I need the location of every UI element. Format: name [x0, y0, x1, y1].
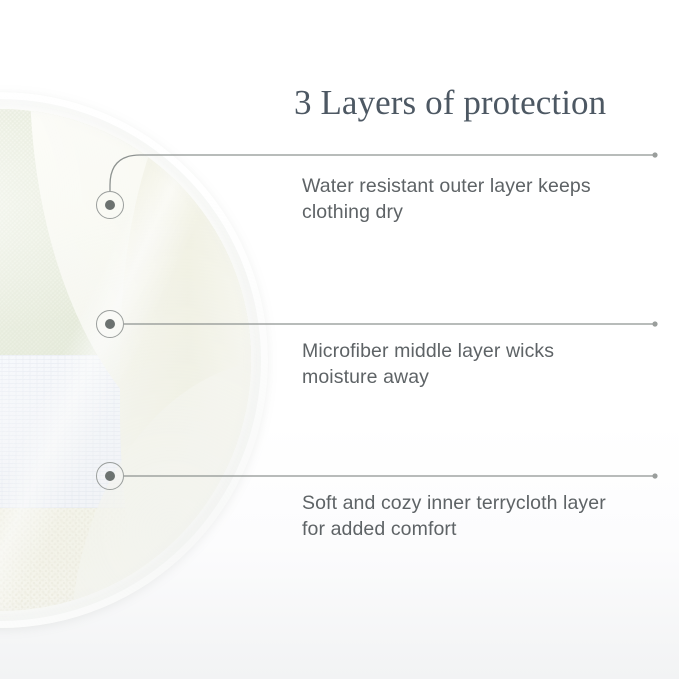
callout-text-outer-layer: Water resistant outer layer keeps clothi…	[302, 173, 632, 225]
callout-text-middle-layer: Microfiber middle layer wicks moisture a…	[302, 338, 632, 390]
leader-endpoint-inner	[652, 473, 657, 478]
infographic-canvas: 3 Layers of protection Water resistant o…	[0, 0, 679, 679]
product-image	[0, 92, 268, 628]
callout-marker-inner-layer[interactable]	[96, 462, 124, 490]
leader-endpoint-middle	[652, 321, 657, 326]
callout-marker-middle-layer[interactable]	[96, 310, 124, 338]
pad-body	[0, 109, 251, 611]
leader-endpoint-outer	[652, 152, 657, 157]
callout-text-inner-layer: Soft and cozy inner terrycloth layer for…	[302, 490, 632, 542]
page-title: 3 Layers of protection	[294, 82, 606, 124]
callout-marker-outer-layer[interactable]	[96, 191, 124, 219]
nursing-pad-disc	[0, 92, 268, 628]
